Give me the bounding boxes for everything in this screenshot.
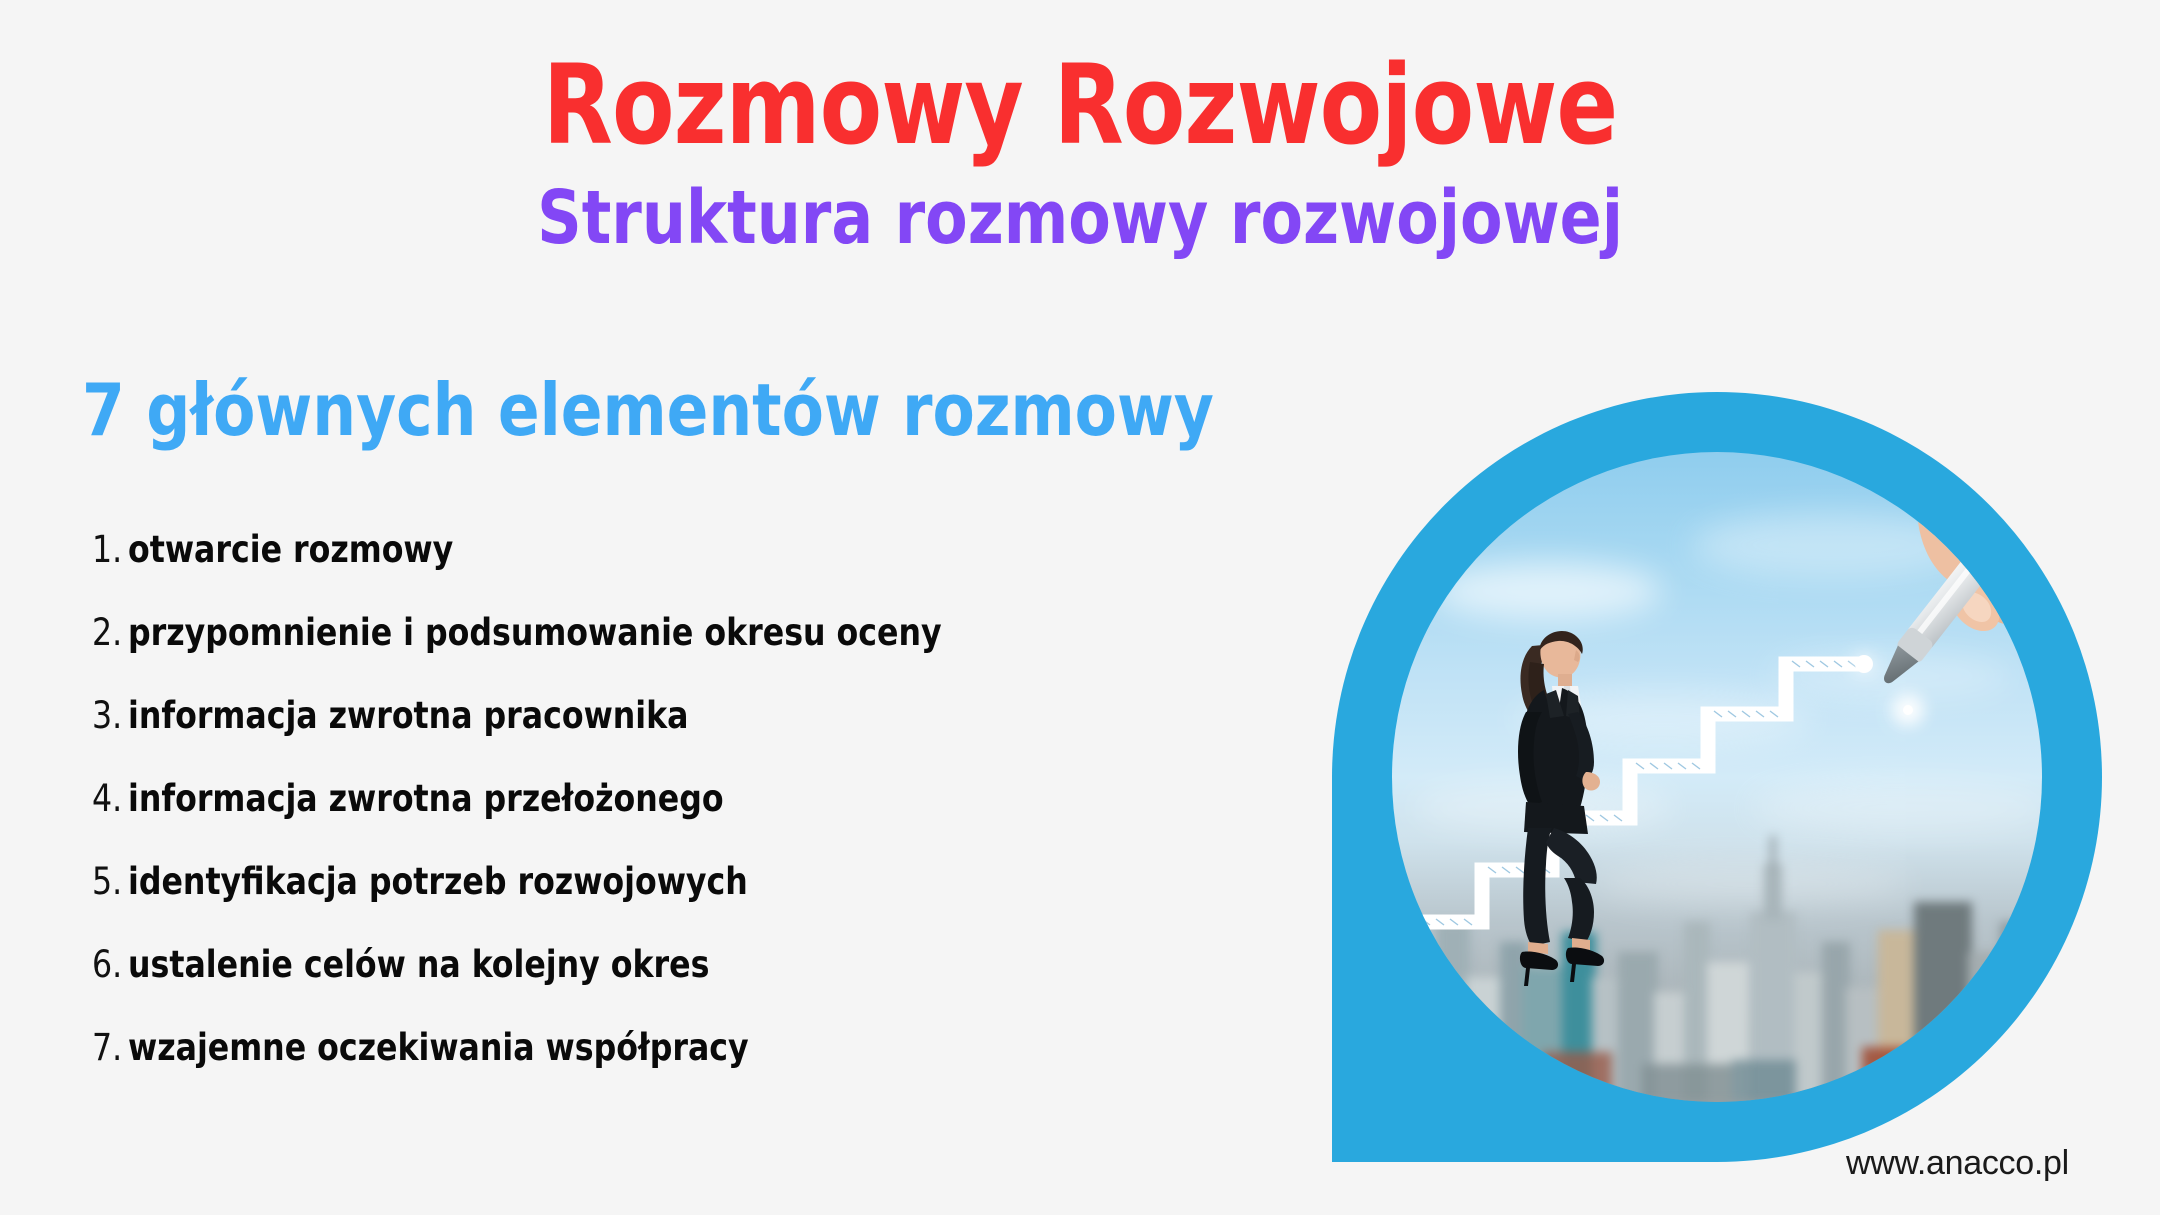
cloud-icon [1512,692,1812,746]
list-item-number: 6. [92,943,126,986]
list-item-label: ustalenie celów na kolejny okres [128,943,709,986]
list-item-number: 3. [92,694,126,737]
list-item: 4. informacja zwrotna przełożonego [92,777,1272,860]
list-item-number: 4. [92,777,126,820]
list-item: 7. wzajemne oczekiwania współpracy [92,1026,1272,1109]
cloud-icon [1432,562,1662,620]
list-item-number: 7. [92,1026,126,1069]
list-item-label: informacja zwrotna pracownika [128,694,689,737]
list-item: 5. identyfikacja potrzeb rozwojowych [92,860,1272,943]
career-growth-photo [1392,452,2042,1102]
slide-canvas: Rozmowy Rozwojowe Struktura rozmowy rozw… [0,0,2160,1215]
list-item: 3. informacja zwrotna pracownika [92,694,1272,777]
page-subtitle: Struktura rozmowy rozwojowej [76,180,2085,258]
conversation-elements-list: 1. otwarcie rozmowy 2. przypomnienie i p… [92,528,1272,1109]
website-url[interactable]: www.anacco.pl [1846,1144,2069,1183]
list-item: 2. przypomnienie i podsumowanie okresu o… [92,611,1272,694]
list-item-label: otwarcie rozmowy [128,528,453,571]
list-item-number: 1. [92,528,126,571]
list-item: 1. otwarcie rozmowy [92,528,1272,611]
list-item-label: wzajemne oczekiwania współpracy [128,1026,749,1069]
list-item-label: identyfikacja potrzeb rozwojowych [128,860,748,903]
list-item: 6. ustalenie celów na kolejny okres [92,943,1272,1026]
hero-graphic [1332,392,2102,1162]
list-item-number: 2. [92,611,126,654]
list-item-label: informacja zwrotna przełożonego [128,777,724,820]
section-heading: 7 głównych elementów rozmowy [82,368,1214,452]
list-item-number: 5. [92,860,126,903]
hand-with-pen-icon [1832,452,2042,772]
list-item-label: przypomnienie i podsumowanie okresu ocen… [128,611,942,654]
city-skyline [1392,802,2042,1102]
page-title: Rozmowy Rozwojowe [86,48,2073,164]
